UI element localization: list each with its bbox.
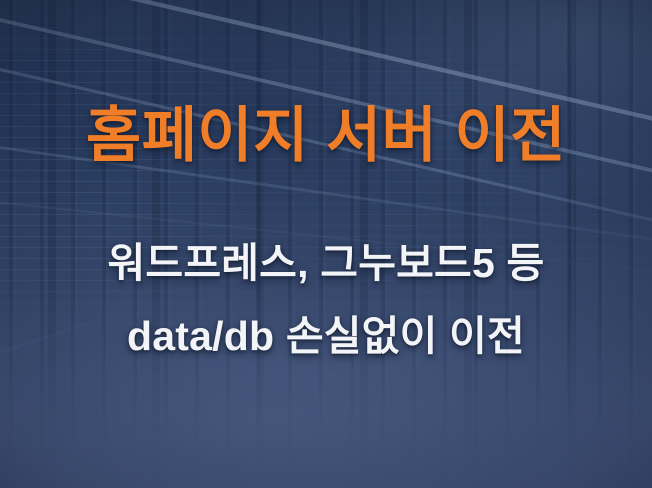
banner-headline: 홈페이지 서버 이전 [0, 106, 652, 166]
banner-subheadline-line-2: data/db 손실없이 이전 [0, 316, 652, 357]
banner-subheadline-line-1: 워드프레스, 그누보드5 등 [0, 243, 652, 284]
banner-text-content: 홈페이지 서버 이전 워드프레스, 그누보드5 등 data/db 손실없이 이… [0, 0, 652, 488]
promo-banner: 홈페이지 서버 이전 워드프레스, 그누보드5 등 data/db 손실없이 이… [0, 0, 652, 488]
